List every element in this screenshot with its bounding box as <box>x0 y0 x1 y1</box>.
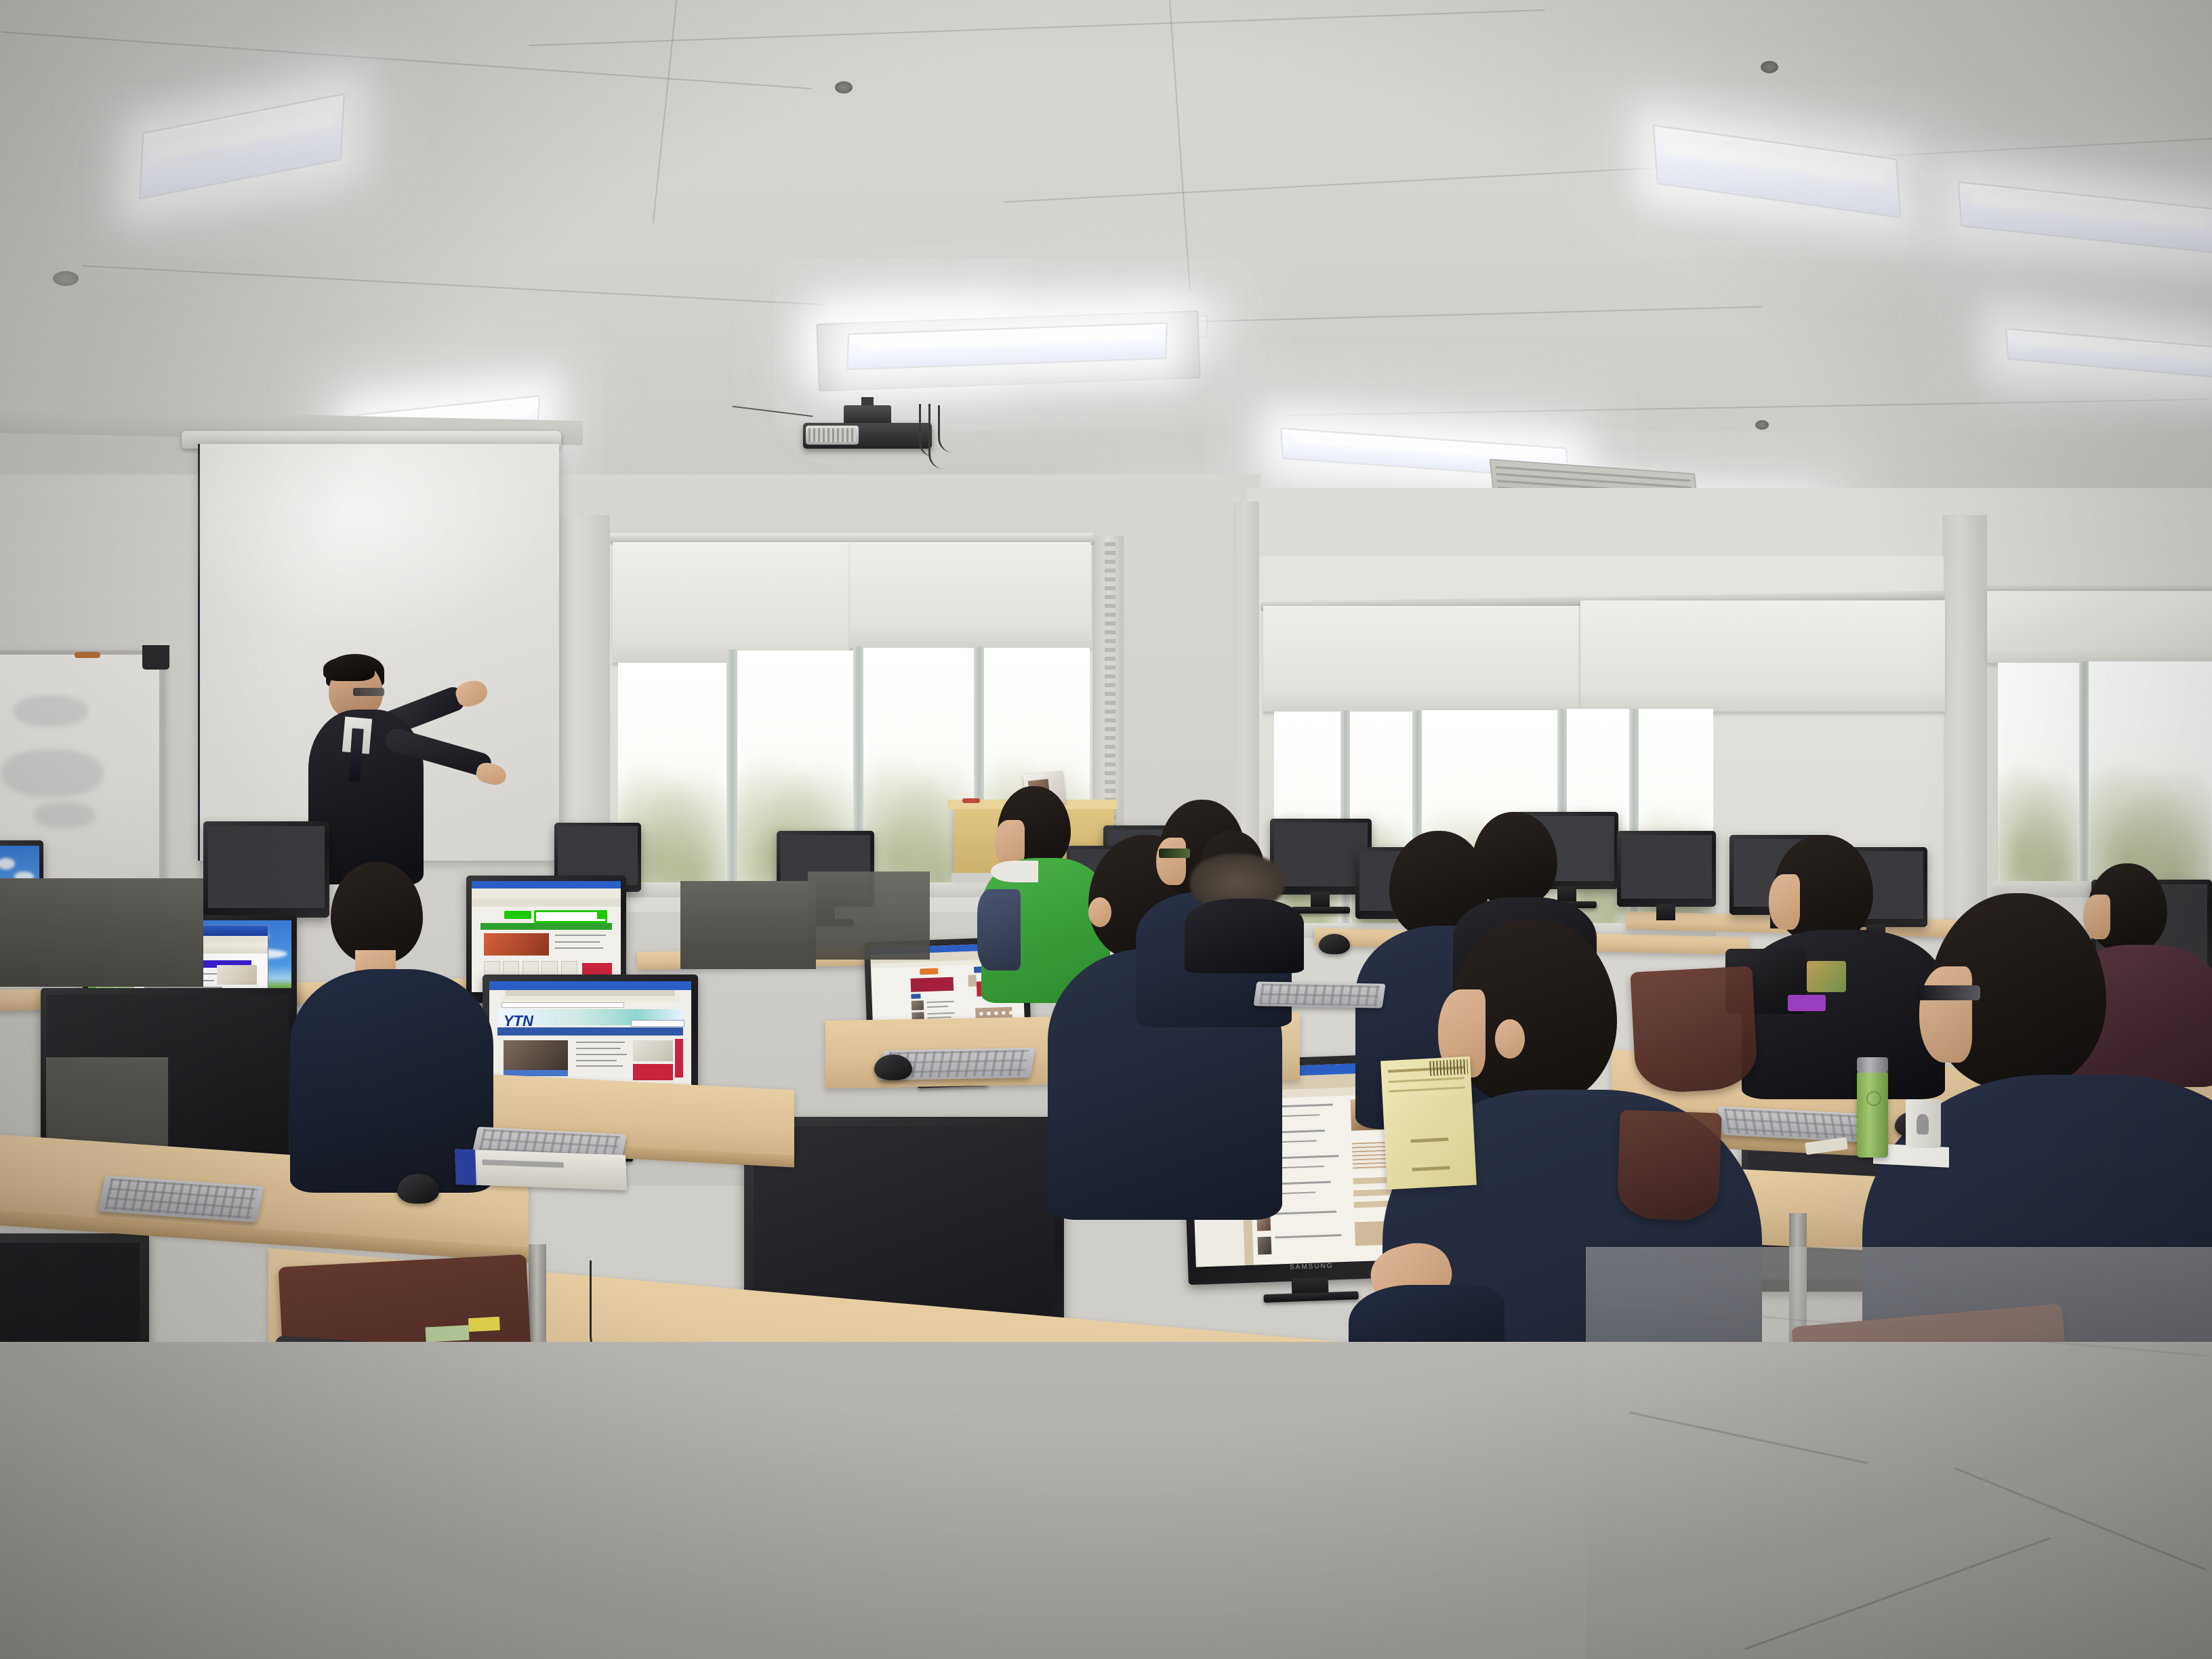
projector <box>803 407 932 449</box>
roller-blind <box>850 542 1091 650</box>
browser-image <box>217 965 257 985</box>
glasses-icon <box>1918 985 1980 1000</box>
projector-cable <box>938 405 982 453</box>
mouse-center[interactable] <box>874 1054 912 1080</box>
instructor-pointing-hand <box>474 760 508 787</box>
feed-tag[interactable] <box>912 994 921 999</box>
ytn-sidebar-ad[interactable] <box>633 1040 674 1061</box>
monitor-back-5 <box>1617 831 1716 907</box>
student-fur-hood <box>1190 824 1298 960</box>
paper-cup[interactable] <box>1906 1099 1941 1148</box>
student-head <box>331 862 423 964</box>
whiteboard-marker[interactable] <box>75 652 100 658</box>
roller-blind <box>613 542 850 665</box>
yellow-document-folder[interactable] <box>1380 1057 1477 1190</box>
feed-headline-banner[interactable] <box>911 977 954 991</box>
roller-blind <box>1580 600 1945 714</box>
student-face <box>1769 874 1800 930</box>
window-pane <box>2089 661 2212 886</box>
window-mullion <box>2079 661 2089 886</box>
desk-partition-center-2 <box>808 872 930 960</box>
roller-blind <box>1987 591 2212 665</box>
student-torso <box>1185 899 1304 973</box>
ytn-right-rail[interactable] <box>675 1039 683 1078</box>
window-pane <box>1998 663 2079 886</box>
feed-thumb[interactable] <box>912 1000 924 1010</box>
chair-sticker-yellow <box>468 1317 500 1332</box>
feed-logo <box>920 968 938 975</box>
whiteboard-frame-corner <box>142 645 169 670</box>
thermos-logo <box>1866 1091 1881 1106</box>
purple-item[interactable] <box>1788 995 1826 1011</box>
chair-mid[interactable] <box>1616 1109 1721 1221</box>
ytn-video-thumbnail[interactable] <box>504 1040 568 1070</box>
lectern-marker[interactable] <box>962 798 980 803</box>
student-ear <box>1088 897 1111 927</box>
naver-search-bar[interactable] <box>534 910 607 923</box>
classroom-photo: YTN SAMSUNG <box>0 0 2212 1659</box>
instructor-hair-front <box>323 657 375 681</box>
student-face <box>1156 838 1186 885</box>
student-ear <box>1495 1019 1525 1059</box>
sprinkler-icon <box>53 271 79 286</box>
chair-sticker-green <box>426 1325 470 1342</box>
sprinkler-icon <box>835 81 853 94</box>
roller-blind <box>1263 606 1579 714</box>
projector-lens-icon <box>806 426 859 445</box>
ytn-promo[interactable] <box>633 1064 674 1080</box>
mouse-back-left[interactable] <box>397 1174 439 1204</box>
sprinkler-icon <box>1755 420 1769 430</box>
projection-glow <box>198 444 557 647</box>
snack-item[interactable] <box>1807 961 1846 992</box>
folder-barcode <box>1429 1059 1468 1076</box>
chair-right-rear[interactable] <box>1630 966 1758 1094</box>
desk-partition-left <box>0 878 203 987</box>
student-sleeve <box>977 889 1021 970</box>
green-thermos[interactable] <box>1857 1071 1888 1158</box>
student-face <box>1919 966 1972 1063</box>
student-collar <box>991 861 1038 882</box>
sprinkler-icon <box>1761 61 1778 73</box>
student-head <box>1472 812 1557 907</box>
instructor-glasses-icon <box>353 688 384 696</box>
ytn-nav[interactable] <box>497 1027 683 1036</box>
naver-search-button[interactable] <box>597 910 606 919</box>
mouse-back-center[interactable] <box>1319 934 1350 954</box>
feed-profile <box>968 975 977 987</box>
monitor-brand-label: SAMSUNG <box>1290 1263 1334 1271</box>
ytn-search-field[interactable] <box>631 1020 684 1027</box>
floor-right-strip <box>1586 1247 2212 1659</box>
instructor <box>308 661 539 884</box>
window-mullion <box>726 649 737 888</box>
textbook-mid-left[interactable] <box>455 1149 627 1191</box>
list-thumb[interactable] <box>1257 1237 1271 1255</box>
glasses-icon <box>1159 848 1190 858</box>
keyboard-back-center[interactable] <box>1253 981 1385 1008</box>
desk-partition-center <box>680 881 816 969</box>
